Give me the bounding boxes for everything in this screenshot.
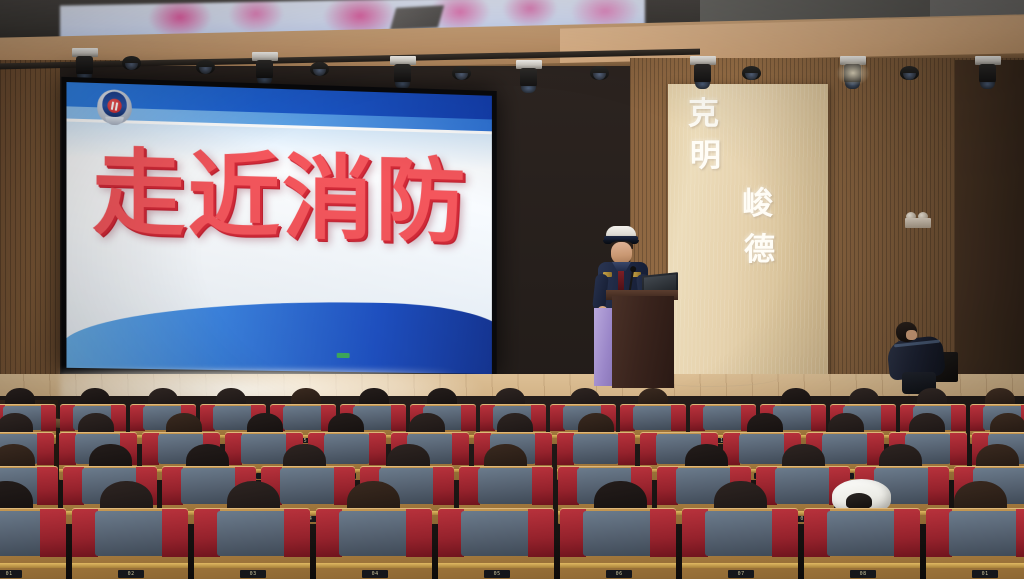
seat-bolster-left — [682, 509, 708, 557]
seat-cushion — [822, 434, 869, 464]
auditorium-seat[interactable]: 01 — [0, 508, 66, 579]
seat-bolster-right — [950, 433, 967, 465]
auditorium-seat[interactable]: 04 — [316, 508, 432, 579]
seat-cushion — [949, 511, 1019, 556]
fire-department-emblem-icon — [97, 87, 132, 126]
seat-bolster-left — [142, 433, 159, 465]
seat-number-plate: 01 — [0, 570, 22, 578]
seat-row-4: 010203040506070801 — [0, 508, 1024, 579]
seat-bolster-right — [535, 433, 552, 465]
par-light-4 — [452, 66, 471, 80]
seat-bolster-right — [531, 405, 546, 431]
podium-area — [566, 224, 696, 384]
seat-bolster-right — [284, 509, 310, 557]
seat-bolster-right — [951, 405, 966, 431]
seat-bolster-left — [557, 433, 574, 465]
seat-bolster-left — [59, 433, 76, 465]
seat-cushion — [461, 511, 531, 556]
par-light-3 — [310, 62, 329, 76]
emergency-light-icon — [905, 212, 931, 228]
seat-bolster-right — [671, 405, 686, 431]
seat-trim — [0, 563, 66, 568]
seat-bolster-left — [926, 509, 952, 557]
presentation-slide: 走近消防 — [66, 82, 491, 374]
auditorium-seat[interactable]: 05 — [438, 508, 554, 579]
seat-bolster-right — [894, 509, 920, 557]
spotlight-head — [394, 64, 411, 84]
seat-bolster-right — [37, 467, 58, 505]
seat-bolster-left — [438, 509, 464, 557]
seat-bolster-right — [461, 405, 476, 431]
person-face — [906, 330, 917, 340]
seat-cushion — [324, 434, 371, 464]
par-light-5 — [590, 66, 609, 80]
seat-bolster-left — [63, 467, 84, 505]
seat-cushion — [280, 468, 336, 504]
seat-bolster-right — [618, 433, 635, 465]
seat-cushion — [217, 511, 287, 556]
auditorium-seat[interactable]: 07 — [682, 508, 798, 579]
seat-bolster-right — [528, 509, 554, 557]
auditorium-seat[interactable]: 02 — [72, 508, 188, 579]
seat-cushion — [739, 434, 786, 464]
seat-cushion — [703, 406, 743, 431]
seat-cushion — [633, 406, 673, 431]
seat-trim — [316, 563, 432, 568]
auditorium-seat[interactable]: 06 — [560, 508, 676, 579]
calligraphy-char-3: 峻 — [742, 188, 773, 219]
seat-number-plate: 05 — [484, 570, 510, 578]
person-bending-right-aisle — [884, 316, 962, 394]
seat-bolster-right — [40, 509, 66, 557]
seat-trim — [682, 563, 798, 568]
seat-trim — [804, 563, 920, 568]
seat-bolster-left — [194, 509, 220, 557]
seat-bolster-right — [452, 433, 469, 465]
emergency-light-body — [905, 218, 931, 228]
seat-number-plate: 03 — [240, 570, 266, 578]
auditorium-seat[interactable]: 01 — [926, 508, 1024, 579]
seat-bolster-right — [37, 433, 54, 465]
calligraphy-char-2: 明 — [690, 140, 721, 171]
seat-cushion — [0, 511, 43, 556]
calligraphy-char-4: 德 — [744, 234, 775, 265]
spotlight-head — [520, 68, 537, 88]
seat-number-plate: 01 — [972, 570, 998, 578]
slide-accent-dash — [337, 353, 350, 358]
par-light-1 — [122, 56, 141, 70]
seat-cushion — [339, 511, 409, 556]
seat-cushion — [95, 511, 165, 556]
seat-bolster-right — [41, 405, 56, 431]
par-light-6 — [742, 66, 761, 80]
seat-number-plate: 06 — [606, 570, 632, 578]
seat-trim — [194, 563, 310, 568]
slide-title: 走近消防 — [77, 145, 482, 249]
seat-bolster-left — [558, 467, 579, 505]
seat-bolster-left — [640, 433, 657, 465]
seat-bolster-right — [532, 467, 553, 505]
seat-number-plate: 02 — [118, 570, 144, 578]
seat-number-plate: 04 — [362, 570, 388, 578]
emblem-base — [105, 117, 123, 126]
seat-cushion — [241, 434, 288, 464]
speaker-tie — [618, 270, 624, 290]
seat-cushion — [478, 468, 534, 504]
par-light-7 — [900, 66, 919, 80]
seat-number-plate: 08 — [850, 570, 876, 578]
seat-bolster-left — [657, 467, 678, 505]
spotlight-head — [76, 56, 93, 76]
seat-bolster-right — [650, 509, 676, 557]
seat-bolster-right — [433, 467, 454, 505]
seat-bolster-right — [369, 433, 386, 465]
spotlight-head — [256, 60, 273, 80]
podium-body — [612, 296, 674, 388]
seat-bolster-right — [1016, 509, 1024, 557]
seat-bolster-right — [811, 405, 826, 431]
seat-cushion — [775, 468, 831, 504]
spotlight-head — [694, 64, 711, 84]
auditorium-seat[interactable]: 03 — [194, 508, 310, 579]
seat-bolster-left — [162, 467, 183, 505]
spotlight-head — [844, 64, 861, 84]
wall-far-right-dark — [955, 60, 1024, 390]
seat-cushion — [583, 511, 653, 556]
seat-bolster-right — [406, 509, 432, 557]
seat-cushion — [283, 406, 323, 431]
seat-bolster-left — [459, 467, 480, 505]
seat-trim — [438, 563, 554, 568]
seat-bolster-right — [772, 509, 798, 557]
calligraphy-char-1: 克 — [688, 98, 719, 129]
auditorium-photo: 克 明 峻 德 走近消防 — [0, 0, 1024, 579]
seat-cushion — [705, 511, 775, 556]
spotlight-head — [979, 64, 996, 84]
emblem-core — [107, 99, 121, 114]
seat-bolster-left — [560, 509, 586, 557]
seat-bolster-right — [881, 405, 896, 431]
seat-trim — [560, 563, 676, 568]
ceiling-vent — [390, 5, 444, 30]
projection-screen: 走近消防 — [61, 77, 496, 379]
seat-number-plate: 07 — [728, 570, 754, 578]
seat-bolster-right — [162, 509, 188, 557]
auditorium-seat[interactable]: 08 — [804, 508, 920, 579]
speaker-head — [611, 242, 632, 264]
spotlight-yoke — [840, 56, 866, 65]
seat-cushion — [827, 511, 897, 556]
seat-trim — [72, 563, 188, 568]
slide-wave — [66, 297, 491, 374]
seat-bolster-left — [316, 509, 342, 557]
seat-bolster-left — [804, 509, 830, 557]
seat-bolster-right — [391, 405, 406, 431]
seat-trim — [926, 563, 1024, 568]
par-light-2 — [196, 60, 215, 74]
seat-bolster-left — [72, 509, 98, 557]
seat-bolster-right — [928, 467, 949, 505]
seat-cushion — [573, 434, 620, 464]
